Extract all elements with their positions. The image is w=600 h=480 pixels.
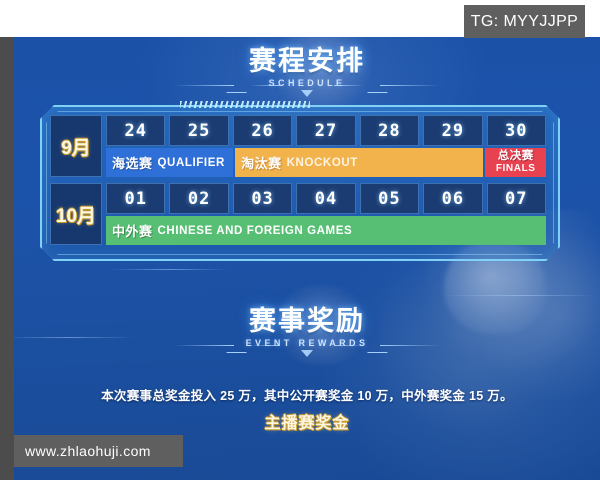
day-number: 27 — [315, 121, 337, 141]
watermark-website: www.zhlaohuji.com — [14, 435, 183, 467]
stage-band-finals[interactable]: 总决赛 FINALS — [485, 148, 546, 177]
day-number: 28 — [378, 121, 400, 141]
day-number: 04 — [315, 189, 337, 209]
day-cell[interactable]: 26 — [233, 115, 292, 146]
stage-band-label-en: KNOCKOUT — [287, 157, 358, 169]
day-cell[interactable]: 02 — [169, 183, 228, 214]
day-number: 05 — [378, 189, 400, 209]
rewards-body-text: 本次赛事总奖金投入 25 万，其中公开赛奖金 10 万，中外赛奖金 15 万。 — [14, 385, 600, 404]
schedule-title-divider — [14, 79, 600, 93]
day-number: 03 — [251, 189, 273, 209]
stage-band-label-cn: 中外赛 — [112, 221, 153, 240]
month-label: 10月 — [56, 201, 96, 228]
schedule-calendar: 9月 24 25 26 27 28 29 30 海选赛 QUALIFIER — [50, 115, 546, 247]
rewards-title: 赛事奖励 — [14, 307, 600, 335]
day-cell[interactable]: 29 — [423, 115, 482, 146]
day-cell[interactable]: 04 — [296, 183, 355, 214]
tournament-schedule-poster: 赛程安排 SCHEDULE 9月 — [0, 0, 600, 480]
month-cell-october: 10月 — [50, 183, 102, 245]
day-cell[interactable]: 03 — [233, 183, 292, 214]
rewards-section-header: 赛事奖励 EVENT REWARDS — [14, 307, 600, 353]
left-edge-strip — [0, 37, 14, 480]
day-number: 26 — [251, 121, 273, 141]
day-cell[interactable]: 25 — [169, 115, 228, 146]
day-number: 07 — [505, 189, 527, 209]
month-cell-september: 9月 — [50, 115, 102, 177]
calendar-row-september: 9月 24 25 26 27 28 29 30 海选赛 QUALIFIER — [50, 115, 546, 177]
day-cells-october: 01 02 03 04 05 06 07 — [106, 183, 546, 214]
stage-bands-october: 中外赛 CHINESE AND FOREIGN GAMES — [106, 216, 546, 245]
day-number: 02 — [188, 189, 210, 209]
poster-body: 赛程安排 SCHEDULE 9月 — [14, 37, 600, 480]
stage-band-label-cn: 海选赛 — [112, 153, 153, 172]
day-number: 24 — [124, 121, 146, 141]
stage-band-label-cn: 总决赛 — [498, 151, 534, 163]
rewards-title-divider — [14, 339, 600, 353]
calendar-row-october: 10月 01 02 03 04 05 06 07 中外赛 CHINESE AND… — [50, 183, 546, 245]
day-cell[interactable]: 30 — [487, 115, 546, 146]
stage-band-label-en: QUALIFIER — [158, 157, 225, 169]
stage-band-knockout[interactable]: 淘汰赛 KNOCKOUT — [235, 148, 483, 177]
month-label: 9月 — [61, 133, 91, 160]
day-cell[interactable]: 06 — [423, 183, 482, 214]
day-number: 30 — [505, 121, 527, 141]
day-cell[interactable]: 01 — [106, 183, 165, 214]
stage-band-label-cn: 淘汰赛 — [241, 153, 282, 172]
day-number: 06 — [442, 189, 464, 209]
day-number: 01 — [124, 189, 146, 209]
decorative-hairline-right — [444, 295, 594, 296]
day-cell[interactable]: 05 — [360, 183, 419, 214]
decorative-hairline-left — [109, 269, 229, 270]
day-number: 29 — [442, 121, 464, 141]
stage-band-qualifier[interactable]: 海选赛 QUALIFIER — [106, 148, 233, 177]
stage-band-label-en: CHINESE AND FOREIGN GAMES — [158, 225, 353, 237]
stage-band-label-en: FINALS — [496, 164, 536, 174]
schedule-title: 赛程安排 — [14, 47, 600, 75]
day-cells-september: 24 25 26 27 28 29 30 — [106, 115, 546, 146]
schedule-section-header: 赛程安排 SCHEDULE — [14, 47, 600, 93]
rewards-sub-heading: 主播赛奖金 — [14, 409, 600, 433]
day-cell[interactable]: 28 — [360, 115, 419, 146]
day-number: 25 — [188, 121, 210, 141]
stage-band-chinese-foreign-games[interactable]: 中外赛 CHINESE AND FOREIGN GAMES — [106, 216, 546, 245]
day-cell[interactable]: 24 — [106, 115, 165, 146]
stage-bands-september: 海选赛 QUALIFIER 淘汰赛 KNOCKOUT 总决赛 FINALS — [106, 148, 546, 177]
watermark-telegram: TG: MYYJJPP — [464, 5, 585, 38]
day-cell[interactable]: 27 — [296, 115, 355, 146]
day-cell[interactable]: 07 — [487, 183, 546, 214]
